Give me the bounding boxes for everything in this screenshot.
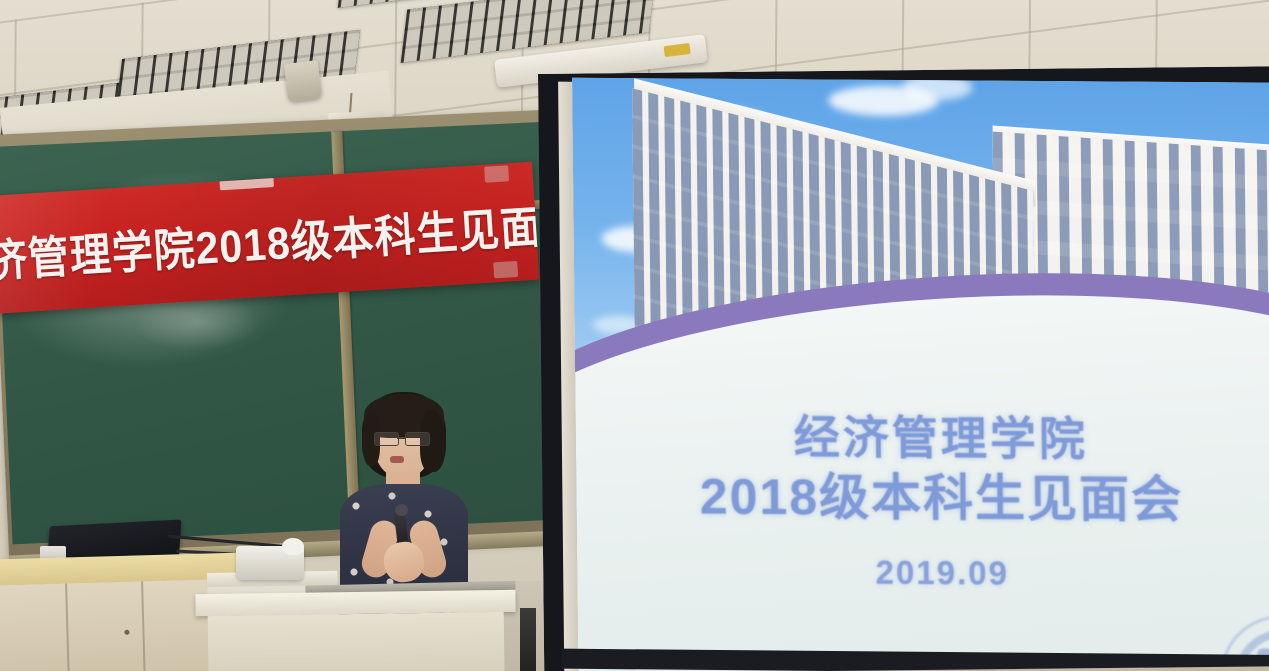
screen-stand-leg xyxy=(520,608,536,671)
slide-title-line-1: 经济管理学院 xyxy=(575,408,1269,471)
slide-text-block: 经济管理学院 2018级本科生见面会 2019.09 xyxy=(575,408,1269,595)
slide-title-line-2: 2018级本科生见面会 xyxy=(576,466,1269,531)
housing-label-sticker xyxy=(664,43,691,57)
tape-strip xyxy=(493,261,518,278)
eyeglasses-icon xyxy=(372,432,434,444)
banner-text: 经济管理学院2018级本科生见面会 xyxy=(0,183,539,294)
glasses-lens-left xyxy=(374,432,399,446)
desk-knob-icon xyxy=(124,630,129,635)
slide-date: 2019.09 xyxy=(577,552,1269,595)
lectern-body xyxy=(208,612,505,671)
glasses-bridge xyxy=(397,437,405,439)
ceiling-speaker-icon xyxy=(284,60,322,102)
projected-slide: 经济管理学院 2018级本科生见面会 2019.09 xyxy=(572,78,1269,671)
lectern xyxy=(195,590,516,671)
container-contents xyxy=(282,538,304,555)
glasses-lens-right xyxy=(405,432,430,446)
projection-screen: 经济管理学院 2018级本科生见面会 2019.09 xyxy=(538,66,1269,671)
classroom-presentation-photo: 经济管理学院2018级本科生见面会 xyxy=(0,0,1269,671)
microphone-head xyxy=(395,504,408,516)
tape-strip xyxy=(484,165,509,182)
presenter-mouth xyxy=(390,456,404,463)
